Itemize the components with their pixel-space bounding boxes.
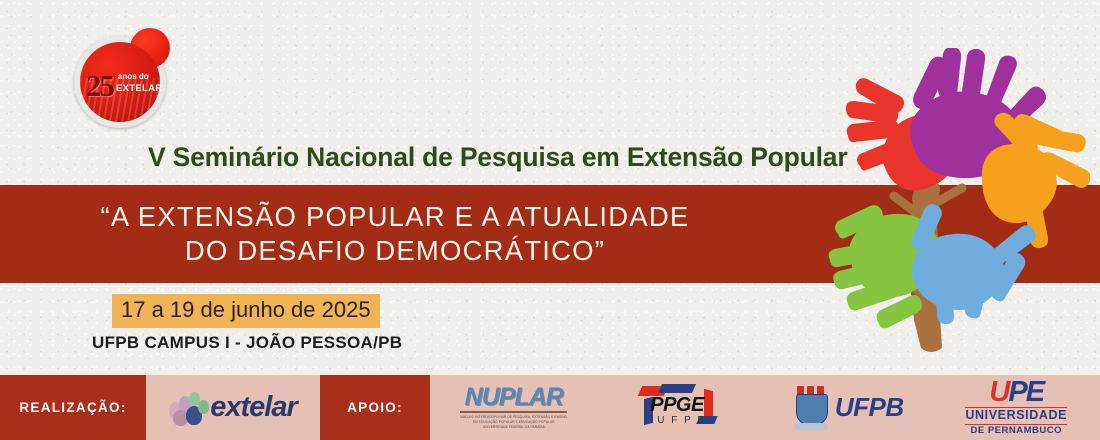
event-banner: 25 anos do EXTELAR V Seminário Nacional … [0, 0, 1100, 440]
realizacao-label: REALIZAÇÃO: [0, 375, 146, 440]
anniversary-logo: 25 anos do EXTELAR [66, 24, 176, 134]
hand-tree-icon [790, 48, 1090, 373]
ppge-wordmark: PPGE [650, 394, 704, 417]
page-title: V Seminário Nacional de Pesquisa em Exte… [148, 142, 847, 173]
apoio-logo-upe: UPE UNIVERSIDADE DE PERNAMBUCO [933, 379, 1100, 435]
apoio-logo-ppge: PPGE U F P B [598, 382, 766, 434]
event-location: UFPB CAMPUS I - JOÃO PESSOA/PB [92, 333, 402, 353]
apoio-label: APOIO: [320, 375, 430, 440]
upe-line-1: UNIVERSIDADE [965, 407, 1067, 425]
upe-u: U [989, 376, 1008, 408]
apoio-logos: NUPLAR NÚCLEO INTERDISCIPLINAR DE PESQUI… [430, 375, 1100, 440]
theme-line-1: “A EXTENSÃO POPULAR E A ATUALIDADE [101, 200, 690, 234]
upe-pe: PE [1008, 376, 1043, 408]
ufpb-crest-icon [794, 386, 828, 430]
nuplar-sub-3: UNIVERSIDADE FEDERAL DA PARAÍBA [460, 425, 567, 430]
nuplar-wordmark: NUPLAR [460, 385, 567, 410]
footer-bar: REALIZAÇÃO: extelar APOIO: NUPLAR [0, 375, 1100, 440]
extelar-wordmark: extelar [210, 391, 297, 424]
upe-line-2: DE PERNAMBUCO [965, 425, 1067, 436]
ufpb-wordmark: UFPB [835, 392, 904, 423]
theme-line-2: DO DESAFIO DEMOCRÁTICO” [185, 234, 605, 268]
logo-org-text: EXTELAR [116, 83, 162, 94]
realizacao-logo-slot: extelar [146, 375, 320, 440]
apoio-logo-nuplar: NUPLAR NÚCLEO INTERDISCIPLINAR DE PESQUI… [430, 385, 598, 429]
ppge-sub: U F P B [657, 415, 706, 426]
extelar-dots-icon [169, 390, 209, 426]
apoio-logo-ufpb: UFPB [765, 386, 933, 430]
theme-text: “A EXTENSÃO POPULAR E A ATUALIDADE DO DE… [0, 188, 790, 280]
nuplar-rule [460, 411, 567, 413]
event-date: 17 a 19 de junho de 2025 [112, 294, 380, 328]
logo-anos-text: anos do [118, 72, 149, 81]
extelar-logo: extelar [169, 390, 297, 426]
logo-number: 25 [86, 68, 113, 104]
